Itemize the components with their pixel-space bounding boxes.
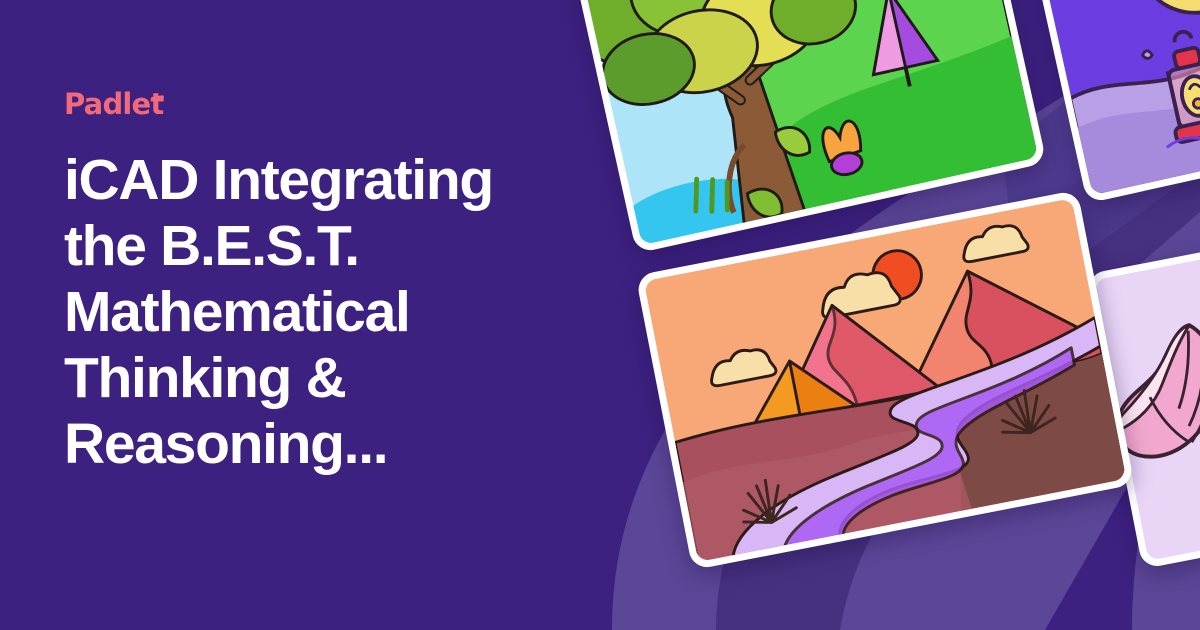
- text-column: Padlet iCAD Integrating the B.E.S.T. Mat…: [64, 90, 564, 478]
- padlet-logo-text: Padlet: [64, 87, 163, 121]
- padlet-logo[interactable]: Padlet: [64, 90, 163, 119]
- page-title: iCAD Integrating the B.E.S.T. Mathematic…: [64, 147, 534, 478]
